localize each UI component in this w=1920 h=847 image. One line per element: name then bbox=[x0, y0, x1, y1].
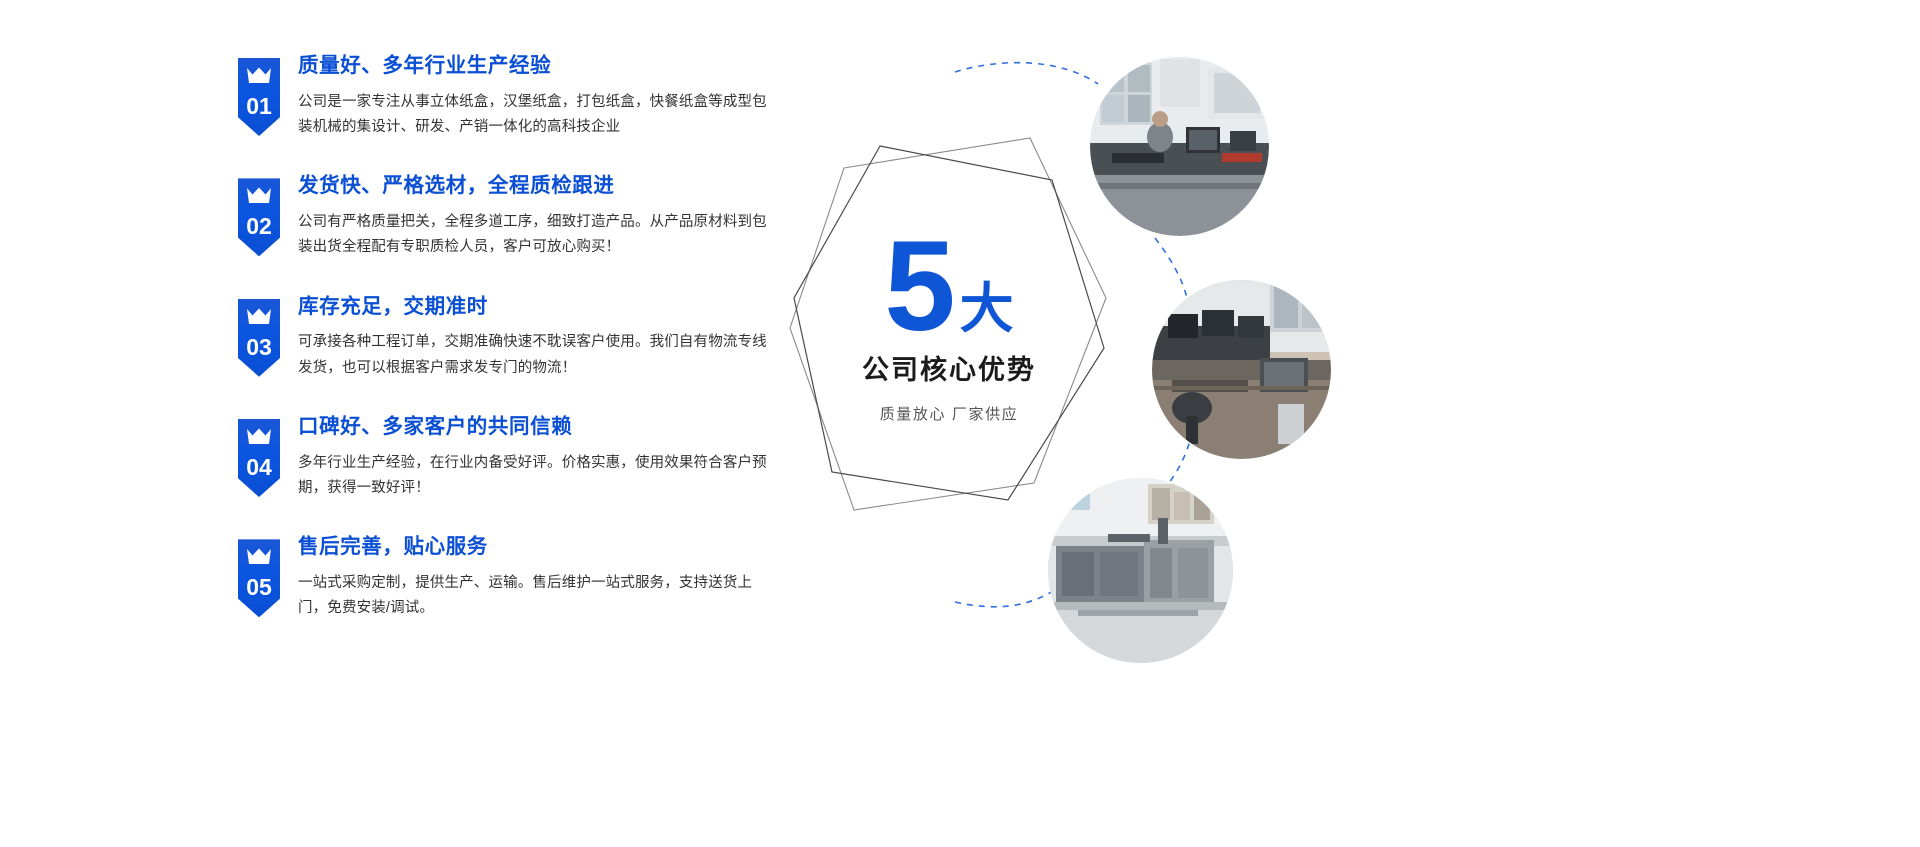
crown-icon bbox=[246, 308, 272, 325]
packaging-machine-photo bbox=[1048, 478, 1233, 663]
badge-number: 02 bbox=[238, 213, 280, 240]
photo-artwork bbox=[1048, 478, 1233, 663]
badge-number: 03 bbox=[238, 334, 280, 361]
crown-icon bbox=[246, 67, 272, 84]
photo-artwork bbox=[1152, 280, 1331, 459]
crown-icon bbox=[246, 428, 272, 445]
badge-number: 05 bbox=[238, 574, 280, 601]
dashed-connectors bbox=[0, 0, 1920, 847]
office-desks-photo bbox=[1152, 280, 1331, 459]
crown-icon bbox=[246, 548, 272, 565]
badge-number: 04 bbox=[238, 454, 280, 481]
advantages-banner: 01 质量好、多年行业生产经验 公司是一家专注从事立体纸盒，汉堡纸盒，打包纸盒，… bbox=[0, 0, 1920, 847]
office-workstation-photo bbox=[1090, 57, 1269, 236]
dash-arc-top bbox=[955, 63, 1098, 84]
photo-artwork bbox=[1090, 57, 1269, 236]
badge-number: 01 bbox=[238, 93, 280, 120]
crown-icon bbox=[246, 187, 272, 204]
dash-arc-bottom bbox=[955, 588, 1058, 607]
